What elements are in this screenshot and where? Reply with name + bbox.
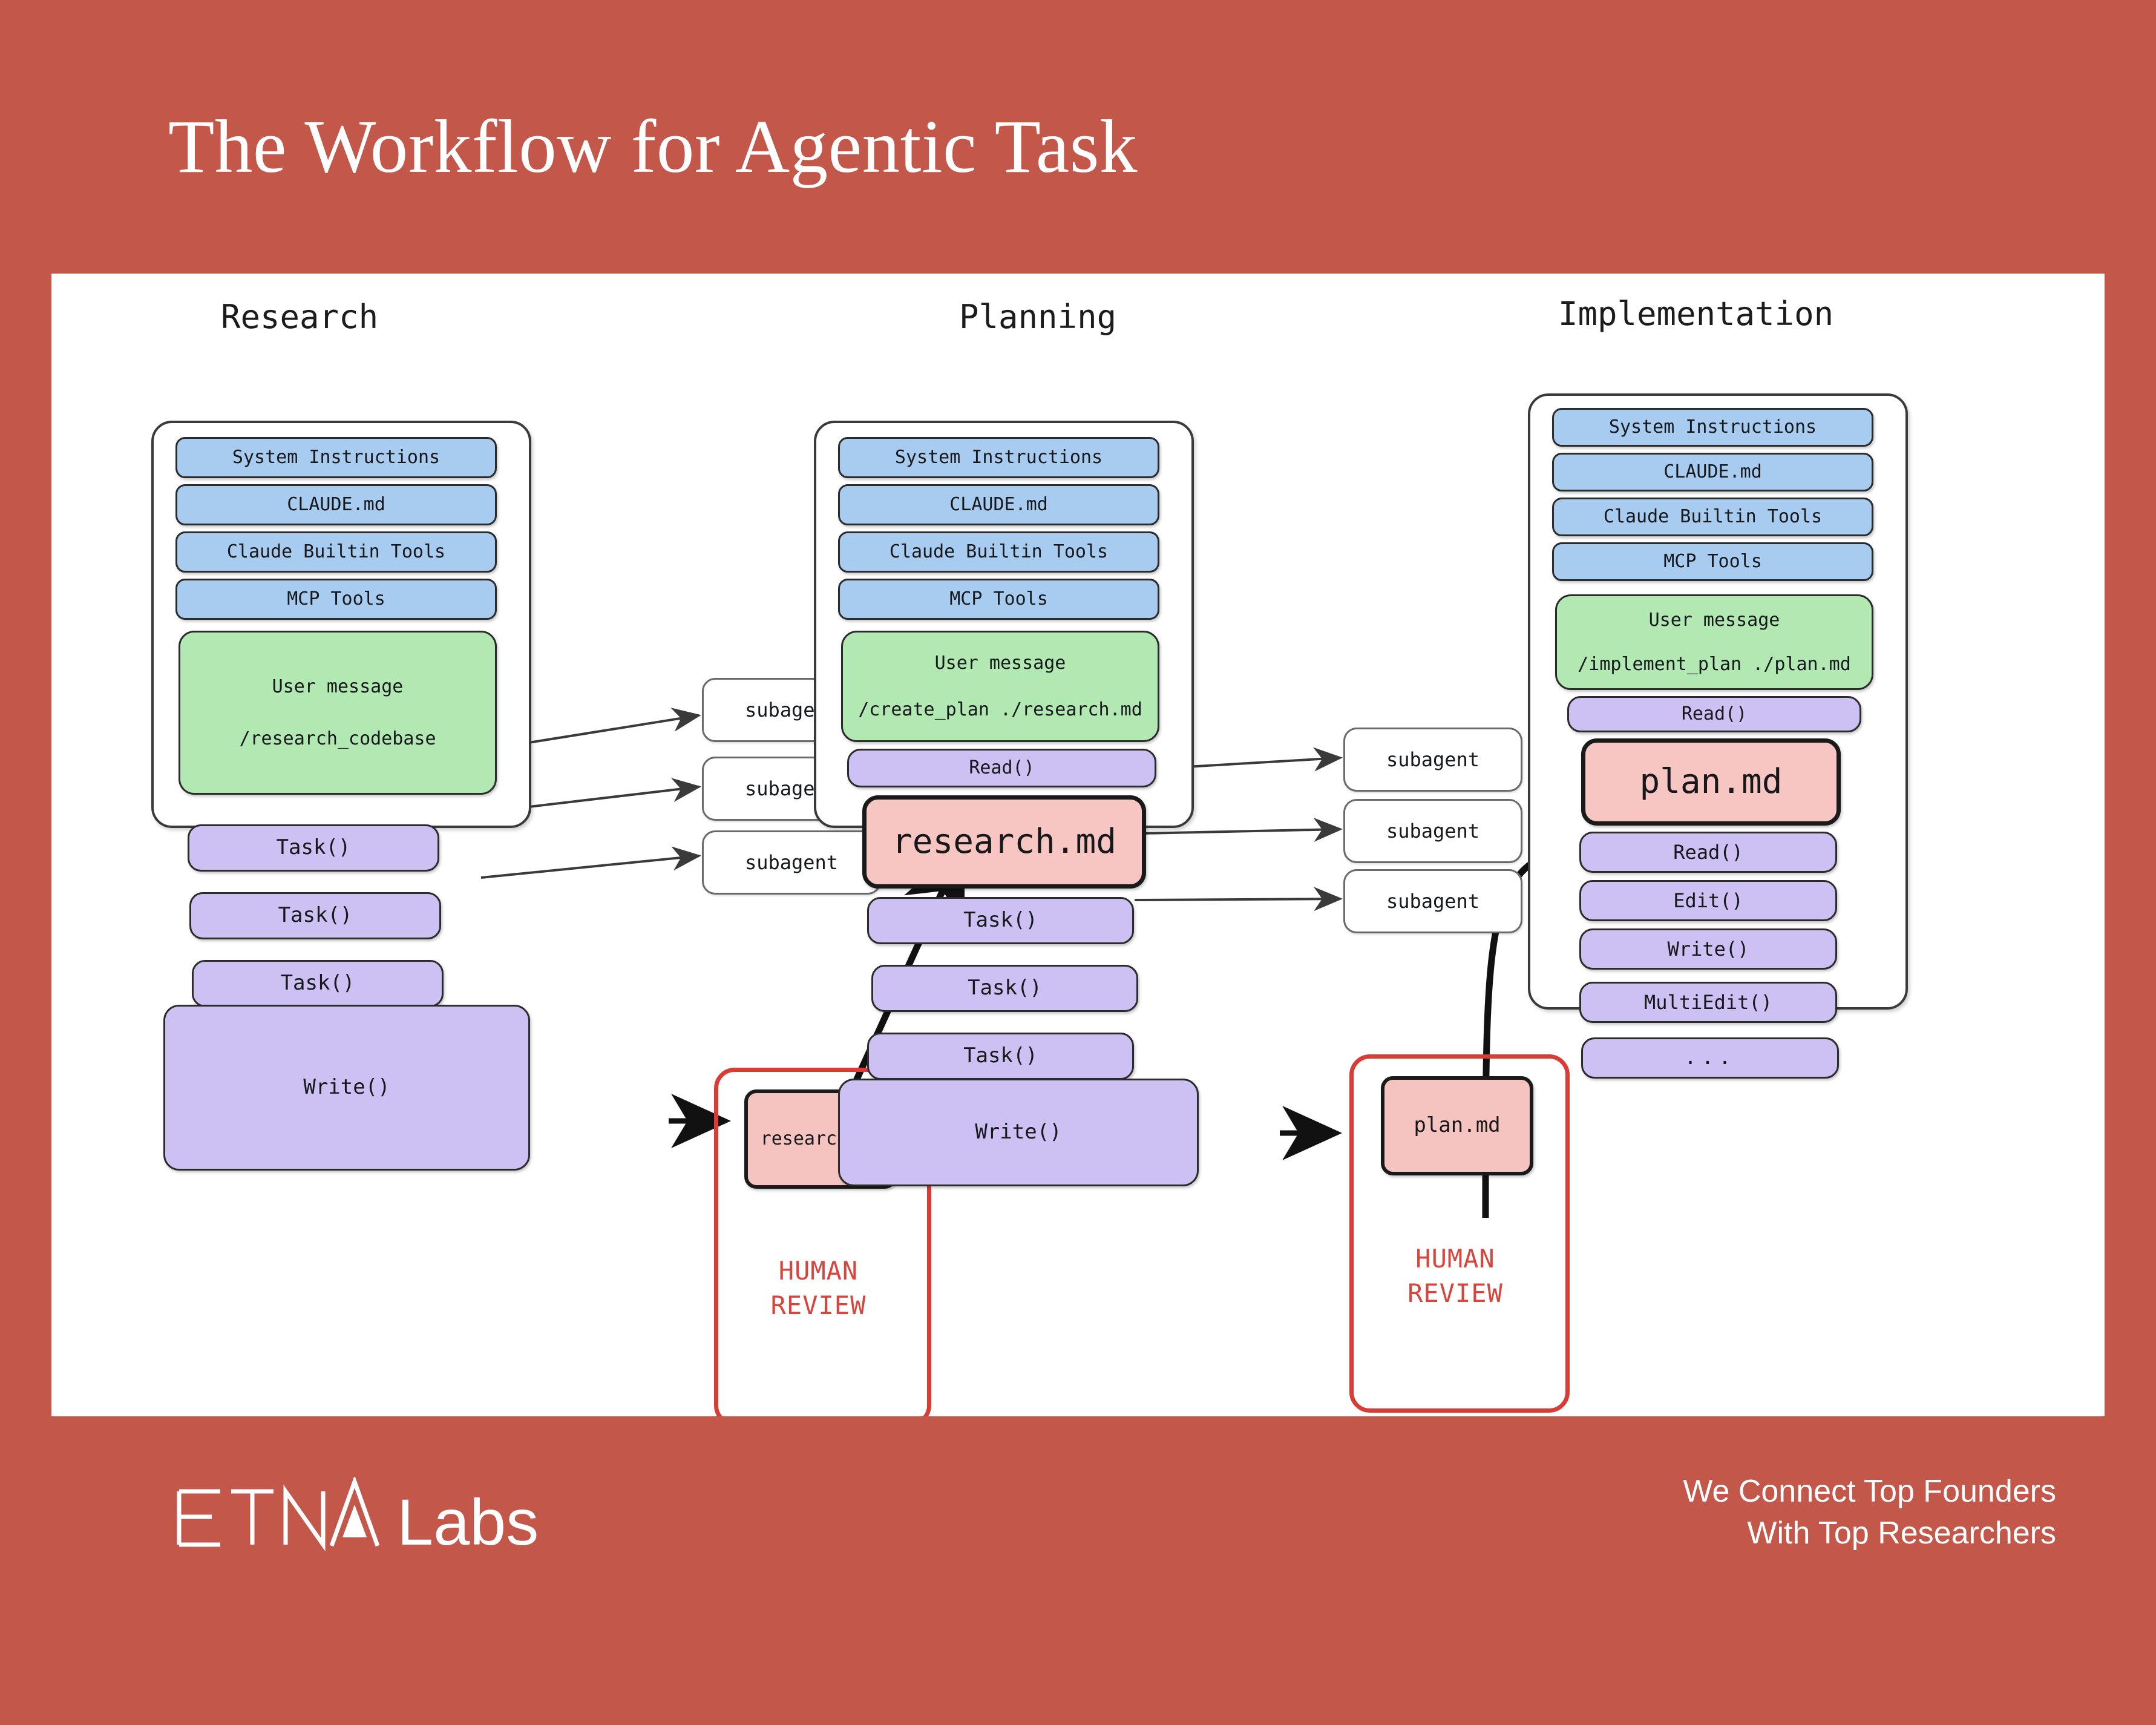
tool-call-write-implementation[interactable]: Write() (1579, 928, 1837, 970)
context-block-system-instructions-planning[interactable]: System Instructions (838, 437, 1159, 478)
artifact-research-md-planning[interactable]: research.md (862, 795, 1146, 889)
context-block-system-instructions-implementation[interactable]: System Instructions (1552, 408, 1873, 447)
tool-call-task-research-1[interactable]: Task() (188, 824, 439, 872)
tool-call-multiedit-implementation[interactable]: MultiEdit() (1579, 982, 1837, 1023)
tool-call-task-research-2[interactable]: Task() (189, 892, 441, 939)
user-message-planning[interactable]: User message /create_plan ./research.md (841, 631, 1159, 742)
context-block-claude-md-implementation[interactable]: CLAUDE.md (1552, 453, 1873, 491)
context-block-mcp-tools-research[interactable]: MCP Tools (175, 579, 497, 620)
user-message-command-implementation: /implement_plan ./plan.md (1578, 651, 1851, 678)
context-block-claude-md-research[interactable]: CLAUDE.md (175, 484, 497, 525)
etna-labs-logo: Labs (175, 1477, 539, 1556)
subagent-planning-2[interactable]: subagent (1343, 799, 1522, 863)
tool-call-read-implementation[interactable]: Read() (1579, 832, 1837, 873)
etna-labs-logo-mark: Labs (175, 1477, 539, 1556)
user-message-command-research: /research_codebase (239, 726, 436, 752)
context-block-mcp-tools-planning[interactable]: MCP Tools (838, 579, 1159, 620)
context-block-mcp-tools-implementation[interactable]: MCP Tools (1552, 542, 1873, 581)
tool-call-read-implementation-top[interactable]: Read() (1567, 696, 1861, 732)
user-message-research[interactable]: User message /research_codebase (179, 631, 497, 795)
etna-labs-wordmark: Labs (397, 1485, 539, 1556)
context-block-builtin-tools-research[interactable]: Claude Builtin Tools (175, 531, 497, 573)
column-heading-implementation: Implementation (1558, 295, 1833, 333)
artifact-plan-md-review[interactable]: plan.md (1381, 1076, 1533, 1175)
context-block-claude-md-planning[interactable]: CLAUDE.md (838, 484, 1159, 525)
subagent-planning-1[interactable]: subagent (1343, 728, 1522, 792)
tool-call-task-planning-2[interactable]: Task() (871, 965, 1138, 1012)
tool-call-ellipsis-implementation[interactable]: ... (1581, 1037, 1839, 1079)
tool-call-write-planning[interactable]: Write() (838, 1079, 1199, 1186)
tool-call-write-research[interactable]: Write() (163, 1005, 530, 1171)
tool-call-task-research-3[interactable]: Task() (192, 960, 444, 1007)
tool-call-task-planning-1[interactable]: Task() (867, 897, 1134, 944)
user-message-title-planning: User message (935, 650, 1066, 677)
diagram-canvas: Research System Instructions CLAUDE.md C… (51, 274, 2105, 1416)
context-block-builtin-tools-planning[interactable]: Claude Builtin Tools (838, 531, 1159, 573)
artifact-plan-md-implementation[interactable]: plan.md (1581, 738, 1841, 826)
column-heading-research: Research (221, 298, 378, 336)
tool-call-edit-implementation[interactable]: Edit() (1579, 880, 1837, 921)
subagent-research-3[interactable]: subagent (702, 830, 881, 895)
context-block-system-instructions-research[interactable]: System Instructions (175, 437, 497, 478)
user-message-command-planning: /create_plan ./research.md (858, 697, 1142, 723)
context-block-builtin-tools-implementation[interactable]: Claude Builtin Tools (1552, 498, 1873, 536)
column-heading-planning: Planning (959, 298, 1116, 336)
tool-call-read-planning[interactable]: Read() (847, 749, 1156, 787)
user-message-implementation[interactable]: User message /implement_plan ./plan.md (1555, 594, 1873, 690)
footer-tagline: We Connect Top Founders With Top Researc… (1683, 1471, 2056, 1554)
tool-call-task-planning-3[interactable]: Task() (867, 1033, 1134, 1080)
human-review-label-planning: HUMAN REVIEW (1349, 1242, 1561, 1310)
subagent-planning-3[interactable]: subagent (1343, 869, 1522, 933)
user-message-title-implementation: User message (1649, 607, 1780, 634)
user-message-title-research: User message (272, 674, 404, 700)
human-review-label-research: HUMAN REVIEW (714, 1254, 923, 1322)
page-title: The Workflow for Agentic Task (168, 106, 1138, 189)
